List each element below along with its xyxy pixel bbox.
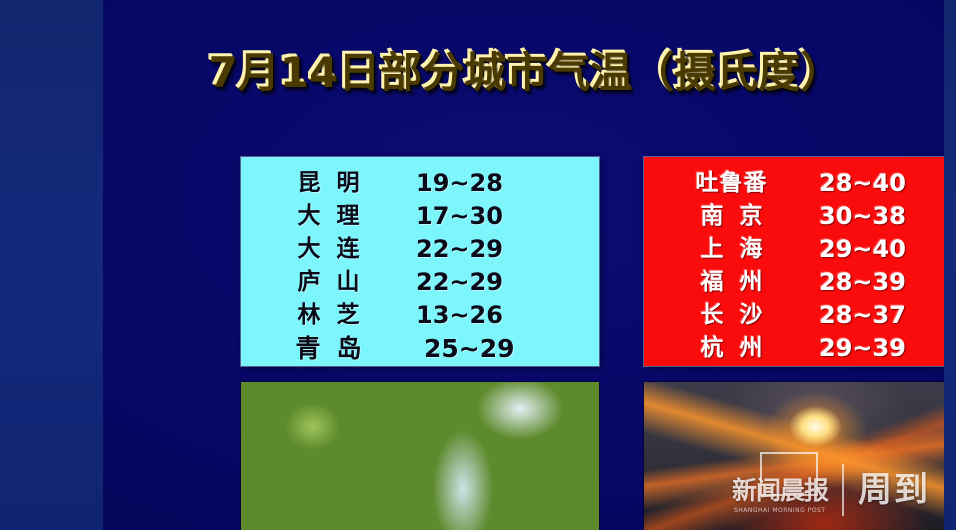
city-name-text: 昆明 [282,170,376,196]
city-name-cell: 青岛 [241,332,416,365]
temperature-range-cell: 28~40 [819,167,944,200]
temperature-range-cell: 30~38 [819,200,944,233]
city-name-cell: 吐鲁番 [644,167,819,200]
city-name-cell: 上海 [644,233,819,266]
temperature-range-cell: 22~29 [416,266,556,299]
city-name-text: 大连 [282,236,376,262]
table-row: 庐山22~29 [241,266,599,299]
city-name-cell: 杭州 [644,332,819,365]
city-name-cell: 庐山 [241,266,416,299]
city-name-text: 吐鲁番 [696,170,768,196]
city-name-cell: 大理 [241,200,416,233]
temperature-range-cell: 29~39 [819,332,944,365]
city-name-text: 长沙 [685,302,779,328]
hot-cities-table: 吐鲁番28~40南京30~38上海29~40福州28~39长沙28~37杭州29… [644,157,944,366]
city-name-text: 林芝 [282,302,376,328]
table-row: 南京30~38 [644,200,944,233]
table-row: 杭州29~39 [644,332,944,365]
left-letterbox-band [0,0,103,530]
city-name-cell: 福州 [644,266,819,299]
city-name-text: 福州 [685,269,779,295]
cool-cities-table: 昆明19~28大理17~30大连22~29庐山22~29林芝13~26青岛25~… [241,157,599,366]
table-row: 青岛25~29 [241,332,599,365]
temperature-range-cell: 13~26 [416,299,556,332]
slide-canvas: 7月14日部分城市气温（摄氏度） 昆明19~28大理17~30大连22~29庐山… [103,0,944,530]
city-name-cell: 昆明 [241,167,416,200]
volcano-eruption-photo [644,382,944,530]
city-name-text: 大理 [282,203,376,229]
page-title: 7月14日部分城市气温（摄氏度） [207,50,841,92]
table-row: 昆明19~28 [241,167,599,200]
table-row: 林芝13~26 [241,299,599,332]
city-name-text: 南京 [685,203,779,229]
table-row: 大连22~29 [241,233,599,266]
screenshot-stage: 7月14日部分城市气温（摄氏度） 昆明19~28大理17~30大连22~29庐山… [0,0,956,530]
city-name-cell: 林芝 [241,299,416,332]
mossy-waterfall-photo [241,382,599,530]
city-name-cell: 大连 [241,233,416,266]
temperature-range-cell: 22~29 [416,233,556,266]
temperature-range-cell: 25~29 [416,332,556,365]
temperature-range-cell: 28~39 [819,266,944,299]
city-name-text: 杭州 [685,335,779,361]
city-name-cell: 南京 [644,200,819,233]
temperature-range-cell: 29~40 [819,233,944,266]
temperature-range-cell: 28~37 [819,299,944,332]
city-name-text: 青岛 [279,334,377,363]
temperature-range-cell: 17~30 [416,200,556,233]
city-name-cell: 长沙 [644,299,819,332]
right-letterbox-band [944,0,956,530]
table-row: 大理17~30 [241,200,599,233]
table-row: 上海29~40 [644,233,944,266]
page-title-container: 7月14日部分城市气温（摄氏度） [103,50,944,92]
table-row: 长沙28~37 [644,299,944,332]
city-name-text: 上海 [685,236,779,262]
table-row: 吐鲁番28~40 [644,167,944,200]
temperature-range-cell: 19~28 [416,167,556,200]
city-name-text: 庐山 [282,269,376,295]
table-row: 福州28~39 [644,266,944,299]
